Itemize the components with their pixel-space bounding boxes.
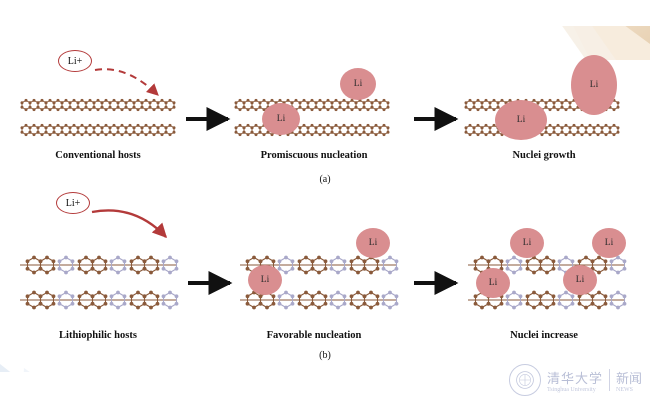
panel-a-stage-2-host-chains [235,99,390,136]
panel-a-stage-3-label: Nuclei growth [446,150,642,161]
panel-b-li-deposit-6: Li [563,265,597,295]
li-deposit-label: Li [590,80,598,90]
figure-canvas: Li+ Li+ Li Li Li Li Li Li Li Li Li Li Co… [0,0,650,400]
panel-a-li-deposit-3: Li [571,55,617,115]
li-deposit-label: Li [523,238,531,248]
panel-b-caption: (b) [0,350,650,361]
panel-a-lithium-ion-circle: Li+ [58,50,92,72]
panel-b-stage-2-label: Favorable nucleation [216,330,412,341]
panel-b-lithium-ion-label: Li+ [66,198,81,209]
panel-a-stage-1-label: Conventional hosts [0,150,196,161]
university-seal-icon [509,364,541,396]
li-deposit-label: Li [576,275,584,285]
li-deposit-label: Li [354,79,362,89]
panel-b-li-deposit-5: Li [476,268,510,298]
panel-a-lithium-ion-label: Li+ [68,56,83,67]
li-deposit-label: Li [489,278,497,288]
watermark-news-label-en: NEWS [616,387,633,393]
panel-b-li-deposit-3: Li [510,228,544,258]
watermark-university-name: 清华大学 [547,368,603,387]
panel-a-stage-1-host-chains [21,99,176,136]
panel-a-li-deposit-2: Li [262,103,300,135]
panel-b-lithium-ion-circle: Li+ [56,192,90,214]
panel-a-ion-path-arrow [95,69,158,95]
watermark-news-label: 新闻 [616,368,642,387]
panel-b-stage-1-label: Lithiophilic hosts [0,330,196,341]
watermark-university-name-en: Tsinghua University [547,387,596,393]
watermark-divider [609,369,610,391]
li-deposit-label: Li [369,238,377,248]
panel-b-li-deposit-4: Li [592,228,626,258]
panel-b-li-deposit-1: Li [356,228,390,258]
watermark: 清华大学 Tsinghua University 新闻 NEWS [509,364,642,396]
panel-a-li-deposit-4: Li [495,100,547,140]
panel-b-li-deposit-2: Li [248,265,282,295]
panel-a-li-deposit-1: Li [340,68,376,100]
panel-a-stage-2-label: Promiscuous nucleation [216,150,412,161]
li-deposit-label: Li [261,275,269,285]
panel-b-stage-3-label: Nuclei increase [446,330,642,341]
li-deposit-label: Li [605,238,613,248]
li-deposit-label: Li [517,115,525,125]
panel-b-stage-1-framework [20,256,178,310]
panel-a-caption: (a) [0,174,650,185]
panel-b-ion-path-arrow [92,210,166,237]
li-deposit-label: Li [277,114,285,124]
